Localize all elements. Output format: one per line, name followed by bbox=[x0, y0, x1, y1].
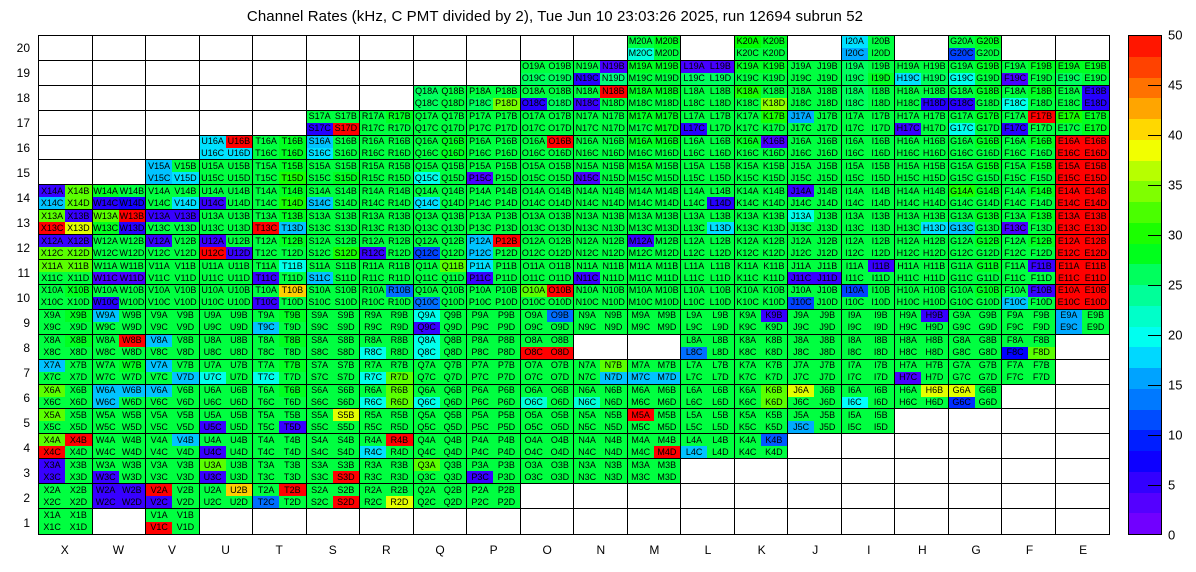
channel-cell: O18D bbox=[547, 98, 573, 110]
channel-cell: V8B bbox=[172, 335, 198, 347]
supermodule-cell: G16AG16BG16CG16D bbox=[949, 136, 1003, 161]
channel-cell: N4C bbox=[574, 446, 600, 458]
supermodule-cell: K13AK13BK13CK13D bbox=[735, 210, 789, 235]
channel-cell: R3B bbox=[386, 459, 412, 471]
supermodule-cell bbox=[253, 61, 307, 86]
channel-cell: K14C bbox=[735, 197, 761, 209]
channel-cell: X2C bbox=[39, 496, 65, 508]
channel-cell: R7D bbox=[386, 372, 412, 384]
channel-cell: O12A bbox=[521, 235, 547, 247]
channel-cell: M10A bbox=[628, 285, 654, 297]
channel-cell: H14A bbox=[895, 185, 921, 197]
channel-cell: W13D bbox=[119, 222, 145, 234]
channel-cell: K9B bbox=[761, 310, 787, 322]
channel-cell: N5A bbox=[574, 409, 600, 421]
channel-cell: W11D bbox=[119, 272, 145, 284]
supermodule-cell: O5AO5BO5CO5D bbox=[521, 409, 575, 434]
channel-cell: O4D bbox=[547, 446, 573, 458]
channel-cell: N10D bbox=[600, 297, 626, 309]
supermodule-cell: L9AL9BL9CL9D bbox=[681, 310, 735, 335]
channel-cell: Q5A bbox=[414, 409, 440, 421]
supermodule-cell: P16AP16BP16CP16D bbox=[467, 136, 521, 161]
channel-cell: J14C bbox=[788, 197, 814, 209]
channel-cell: T9C bbox=[253, 322, 279, 334]
x-axis-tick-label: V bbox=[145, 539, 199, 563]
channel-cell: H14C bbox=[895, 197, 921, 209]
supermodule-cell: V15AV15BV15CV15D bbox=[146, 160, 200, 185]
channel-cell: W4B bbox=[119, 434, 145, 446]
channel-cell: G6C bbox=[949, 397, 975, 409]
channel-cell: I15D bbox=[868, 172, 894, 184]
supermodule-cell: Q13AQ13BQ13CQ13D bbox=[414, 210, 468, 235]
channel-cell: T11D bbox=[279, 272, 305, 284]
channel-cell: M15B bbox=[654, 160, 680, 172]
channel-cell: V10D bbox=[172, 297, 198, 309]
supermodule-cell: K15AK15BK15CK15D bbox=[735, 160, 789, 185]
channel-cell: M7C bbox=[628, 372, 654, 384]
channel-cell: L7B bbox=[707, 360, 733, 372]
channel-cell: S9A bbox=[307, 310, 333, 322]
supermodule-cell bbox=[307, 36, 361, 61]
channel-cell: M19B bbox=[654, 61, 680, 73]
channel-cell: U14B bbox=[226, 185, 252, 197]
supermodule-cell: W12AW12BW12CW12D bbox=[93, 235, 147, 260]
channel-cell: L10D bbox=[707, 297, 733, 309]
channel-cell: V12D bbox=[172, 247, 198, 259]
supermodule-cell: K19AK19BK19CK19D bbox=[735, 61, 789, 86]
channel-cell: R17C bbox=[360, 123, 386, 135]
channel-cell: K4B bbox=[761, 434, 787, 446]
supermodule-cell: N11AN11BN11CN11D bbox=[574, 260, 628, 285]
channel-cell: W5C bbox=[93, 421, 119, 433]
channel-cell: F7D bbox=[1028, 372, 1054, 384]
channel-cell: E19D bbox=[1082, 73, 1109, 85]
supermodule-cell: R10AR10BR10CR10D bbox=[360, 285, 414, 310]
channel-cell: V9A bbox=[146, 310, 172, 322]
supermodule-cell: I8AI8BI8CI8D bbox=[842, 335, 896, 360]
channel-cell: Q10A bbox=[414, 285, 440, 297]
x-axis-tick-label: U bbox=[199, 539, 253, 563]
channel-cell: Q12B bbox=[440, 235, 466, 247]
channel-cell: X1A bbox=[39, 509, 65, 521]
supermodule-cell: F19AF19BF19CF19D bbox=[1002, 61, 1056, 86]
channel-cell: H8D bbox=[921, 347, 947, 359]
supermodule-cell: S3AS3BS3CS3D bbox=[307, 459, 361, 484]
channel-cell: I10C bbox=[842, 297, 868, 309]
channel-cell: P2B bbox=[493, 484, 519, 496]
channel-cell: X9D bbox=[65, 322, 91, 334]
supermodule-cell bbox=[1002, 36, 1056, 61]
channel-cell: Q14A bbox=[414, 185, 440, 197]
channel-cell: U6B bbox=[226, 385, 252, 397]
channel-cell: Q16C bbox=[414, 148, 440, 160]
supermodule-cell: R2AR2BR2CR2D bbox=[360, 484, 414, 509]
channel-cell: S5D bbox=[333, 421, 359, 433]
channel-cell: P4D bbox=[493, 446, 519, 458]
supermodule-cell: L4AL4BL4CL4D bbox=[681, 434, 735, 459]
supermodule-cell: H13AH13BH13CH13D bbox=[895, 210, 949, 235]
channel-cell: U13A bbox=[200, 210, 226, 222]
channel-cell: J16A bbox=[788, 136, 814, 148]
channel-cell: E12C bbox=[1056, 247, 1083, 259]
channel-cell: J9A bbox=[788, 310, 814, 322]
channel-cell: Q11D bbox=[440, 272, 466, 284]
channel-cell: J17D bbox=[814, 123, 840, 135]
channel-cell: L13B bbox=[707, 210, 733, 222]
channel-cell: K17D bbox=[761, 123, 787, 135]
supermodule-cell: I6AI6BI6CI6D bbox=[842, 385, 896, 410]
supermodule-cell: V4AV4BV4CV4D bbox=[146, 434, 200, 459]
channel-cell: W10A bbox=[93, 285, 119, 297]
channel-cell: I7B bbox=[868, 360, 894, 372]
channel-cell: G8B bbox=[975, 335, 1001, 347]
supermodule-cell bbox=[1056, 484, 1110, 509]
channel-cell: F8B bbox=[1028, 335, 1054, 347]
channel-cell: R4C bbox=[360, 446, 386, 458]
channel-cell: U9D bbox=[226, 322, 252, 334]
supermodule-cell: P10AP10BP10CP10D bbox=[467, 285, 521, 310]
channel-cell: L11D bbox=[707, 272, 733, 284]
channel-cell: Q4A bbox=[414, 434, 440, 446]
channel-cell: I11C bbox=[842, 272, 868, 284]
channel-cell: R4D bbox=[386, 446, 412, 458]
channel-cell: V6B bbox=[172, 385, 198, 397]
channel-cell: Q9B bbox=[440, 310, 466, 322]
channel-cell: Q3C bbox=[414, 471, 440, 483]
channel-cell: H11D bbox=[921, 272, 947, 284]
channel-cell: I10D bbox=[868, 297, 894, 309]
channel-cell: T8C bbox=[253, 347, 279, 359]
channel-cell: R7A bbox=[360, 360, 386, 372]
channel-cell: V10B bbox=[172, 285, 198, 297]
channel-cell: G20B bbox=[975, 36, 1001, 48]
supermodule-cell bbox=[895, 459, 949, 484]
colorbar-tick-label: 0 bbox=[1168, 528, 1175, 543]
channel-cell: U11A bbox=[200, 260, 226, 272]
channel-cell: P18A bbox=[467, 86, 493, 98]
channel-cell: P16D bbox=[493, 148, 519, 160]
channel-cell: Q9C bbox=[414, 322, 440, 334]
channel-cell: I9D bbox=[868, 322, 894, 334]
channel-cell: G12C bbox=[949, 247, 975, 259]
channel-cell: O10A bbox=[521, 285, 547, 297]
channel-cell: L6A bbox=[681, 385, 707, 397]
channel-cell: X5C bbox=[39, 421, 65, 433]
channel-cell: V3B bbox=[172, 459, 198, 471]
channel-cell: Q18C bbox=[414, 98, 440, 110]
channel-cell: L13A bbox=[681, 210, 707, 222]
supermodule-cell bbox=[1002, 385, 1056, 410]
channel-cell: U5C bbox=[200, 421, 226, 433]
channel-cell: M16A bbox=[628, 136, 654, 148]
supermodule-cell: H6AH6BH6CH6D bbox=[895, 385, 949, 410]
channel-cell: U9B bbox=[226, 310, 252, 322]
x-axis-tick-label: E bbox=[1056, 539, 1110, 563]
channel-cell: S17A bbox=[307, 111, 333, 123]
channel-cell: Q16B bbox=[440, 136, 466, 148]
supermodule-cell: K16AK16BK16CK16D bbox=[735, 136, 789, 161]
supermodule-cell: F12AF12BF12CF12D bbox=[1002, 235, 1056, 260]
channel-cell: S4B bbox=[333, 434, 359, 446]
channel-cell: M10C bbox=[628, 297, 654, 309]
channel-cell: L8C bbox=[681, 347, 707, 359]
channel-cell: E14B bbox=[1082, 185, 1109, 197]
channel-cell: P16C bbox=[467, 148, 493, 160]
channel-cell: O10C bbox=[521, 297, 547, 309]
supermodule-cell: J14AJ14BJ14CJ14D bbox=[788, 185, 842, 210]
channel-cell: F17C bbox=[1002, 123, 1028, 135]
channel-cell: L9B bbox=[707, 310, 733, 322]
supermodule-cell: X9AX9BX9CX9D bbox=[39, 310, 93, 335]
channel-cell: L17C bbox=[681, 123, 707, 135]
supermodule-cell bbox=[574, 36, 628, 61]
supermodule-cell: O18AO18BO18CO18D bbox=[521, 86, 575, 111]
supermodule-cell: M4AM4BM4CM4D bbox=[628, 434, 682, 459]
channel-cell: M18B bbox=[654, 86, 680, 98]
channel-cell: J19B bbox=[814, 61, 840, 73]
channel-cell: K11C bbox=[735, 272, 761, 284]
channel-cell: L6B bbox=[707, 385, 733, 397]
supermodule-cell: L10AL10BL10CL10D bbox=[681, 285, 735, 310]
supermodule-cell bbox=[307, 61, 361, 86]
channel-cell: W5B bbox=[119, 409, 145, 421]
supermodule-cell: O16AO16BO16CO16D bbox=[521, 136, 575, 161]
channel-cell: N12A bbox=[574, 235, 600, 247]
supermodule-cell: L11AL11BL11CL11D bbox=[681, 260, 735, 285]
supermodule-cell: U4AU4BU4CU4D bbox=[200, 434, 254, 459]
channel-cell: N4A bbox=[574, 434, 600, 446]
channel-cell: P6A bbox=[467, 385, 493, 397]
channel-cell: R6A bbox=[360, 385, 386, 397]
channel-cell: W2B bbox=[119, 484, 145, 496]
channel-cell: N11D bbox=[600, 272, 626, 284]
supermodule-cell: X8AX8BX8CX8D bbox=[39, 335, 93, 360]
y-axis-tick-label: 9 bbox=[23, 316, 30, 330]
supermodule-cell: S8AS8BS8CS8D bbox=[307, 335, 361, 360]
supermodule-cell: G20AG20BG20CG20D bbox=[949, 36, 1003, 61]
channel-cell: W8B bbox=[119, 335, 145, 347]
supermodule-cell bbox=[949, 409, 1003, 434]
channel-cell: M10D bbox=[654, 297, 680, 309]
supermodule-cell: E18AE18BE18CE18D bbox=[1056, 86, 1110, 111]
channel-cell: I6B bbox=[868, 385, 894, 397]
supermodule-cell bbox=[681, 509, 735, 534]
supermodule-cell: M5AM5BM5CM5D bbox=[628, 409, 682, 434]
colorbar-tick-label: 30 bbox=[1168, 228, 1182, 243]
channel-cell: N13C bbox=[574, 222, 600, 234]
channel-cell: K19D bbox=[761, 73, 787, 85]
channel-cell: M17C bbox=[628, 123, 654, 135]
channel-cell: T9D bbox=[279, 322, 305, 334]
channel-cell: E16D bbox=[1082, 148, 1109, 160]
supermodule-cell: K5AK5BK5CK5D bbox=[735, 409, 789, 434]
channel-cell: S4C bbox=[307, 446, 333, 458]
channel-cell: I14B bbox=[868, 185, 894, 197]
channel-cell: G20C bbox=[949, 48, 975, 60]
channel-cell: Q17B bbox=[440, 111, 466, 123]
channel-cell: L7D bbox=[707, 372, 733, 384]
supermodule-cell bbox=[1002, 409, 1056, 434]
supermodule-cell: R16AR16BR16CR16D bbox=[360, 136, 414, 161]
supermodule-cell bbox=[253, 509, 307, 534]
channel-cell: I5D bbox=[868, 421, 894, 433]
supermodule-cell bbox=[93, 61, 147, 86]
channel-cell: J19A bbox=[788, 61, 814, 73]
channel-cell: O6B bbox=[547, 385, 573, 397]
supermodule-cell bbox=[39, 111, 93, 136]
channel-cell: K7B bbox=[761, 360, 787, 372]
supermodule-cell: T15AT15BT15CT15D bbox=[253, 160, 307, 185]
channel-cell: I18D bbox=[868, 98, 894, 110]
channel-cell: T3D bbox=[279, 471, 305, 483]
channel-cell: H12C bbox=[895, 247, 921, 259]
channel-cell: U12C bbox=[200, 247, 226, 259]
channel-cell: X14A bbox=[39, 185, 65, 197]
channel-cell: H9B bbox=[921, 310, 947, 322]
channel-cell: S14A bbox=[307, 185, 333, 197]
supermodule-cell: O4AO4BO4CO4D bbox=[521, 434, 575, 459]
channel-cell: O17A bbox=[521, 111, 547, 123]
channel-cell: W12C bbox=[93, 247, 119, 259]
channel-cell: Q4D bbox=[440, 446, 466, 458]
channel-cell: P18D bbox=[493, 98, 519, 110]
channel-cell: O19C bbox=[521, 73, 547, 85]
supermodule-cell bbox=[307, 509, 361, 534]
supermodule-cell: F9AF9BF9CF9D bbox=[1002, 310, 1056, 335]
supermodule-cell: U12AU12BU12CU12D bbox=[200, 235, 254, 260]
channel-cell: Q7A bbox=[414, 360, 440, 372]
supermodule-cell: E13AE13BE13CE13D bbox=[1056, 210, 1110, 235]
channel-cell: I20C bbox=[842, 48, 868, 60]
channel-cell: V7A bbox=[146, 360, 172, 372]
channel-cell: O7C bbox=[521, 372, 547, 384]
channel-cell: T7A bbox=[253, 360, 279, 372]
supermodule-cell bbox=[521, 36, 575, 61]
channel-cell: J18C bbox=[788, 98, 814, 110]
channel-cell: P4C bbox=[467, 446, 493, 458]
channel-cell: N14B bbox=[600, 185, 626, 197]
supermodule-cell bbox=[574, 484, 628, 509]
channel-cell: V6C bbox=[146, 397, 172, 409]
channel-cell: J15B bbox=[814, 160, 840, 172]
channel-cell: M14B bbox=[654, 185, 680, 197]
channel-cell: U11B bbox=[226, 260, 252, 272]
supermodule-cell bbox=[1056, 36, 1110, 61]
supermodule-cell: X4AX4BX4CX4D bbox=[39, 434, 93, 459]
channel-cell: K10A bbox=[735, 285, 761, 297]
channel-cell: W4A bbox=[93, 434, 119, 446]
channel-cell: H12B bbox=[921, 235, 947, 247]
supermodule-cell: S9AS9BS9CS9D bbox=[307, 310, 361, 335]
supermodule-cell: Q6AQ6BQ6CQ6D bbox=[414, 385, 468, 410]
supermodule-cell: H16AH16BH16CH16D bbox=[895, 136, 949, 161]
supermodule-cell: O10AO10BO10CO10D bbox=[521, 285, 575, 310]
channel-cell: G19C bbox=[949, 73, 975, 85]
channel-cell: U3A bbox=[200, 459, 226, 471]
channel-cell: G19B bbox=[975, 61, 1001, 73]
channel-cell: Q9A bbox=[414, 310, 440, 322]
channel-cell: T9B bbox=[279, 310, 305, 322]
channel-cell: F16A bbox=[1002, 136, 1028, 148]
channel-cell: G13A bbox=[949, 210, 975, 222]
channel-cell: N3A bbox=[574, 459, 600, 471]
channel-cell: S5B bbox=[333, 409, 359, 421]
channel-cell: M12D bbox=[654, 247, 680, 259]
channel-cell: H10B bbox=[921, 285, 947, 297]
supermodule-cell: X11AX11BX11CX11D bbox=[39, 260, 93, 285]
channel-cell: K11B bbox=[761, 260, 787, 272]
supermodule-cell: S16AS16BS16CS16D bbox=[307, 136, 361, 161]
channel-cell: L16A bbox=[681, 136, 707, 148]
channel-cell: N16B bbox=[600, 136, 626, 148]
channel-cell: S17B bbox=[333, 111, 359, 123]
supermodule-cell: S12AS12BS12CS12D bbox=[307, 235, 361, 260]
supermodule-cell: W3AW3BW3CW3D bbox=[93, 459, 147, 484]
channel-cell: M6C bbox=[628, 397, 654, 409]
supermodule-cell: I14AI14BI14CI14D bbox=[842, 185, 896, 210]
channel-cell: U15A bbox=[200, 160, 226, 172]
x-axis-tick-label: P bbox=[467, 539, 521, 563]
supermodule-cell: F8AF8BF8CF8D bbox=[1002, 335, 1056, 360]
channel-cell: L10B bbox=[707, 285, 733, 297]
channel-cell: S8A bbox=[307, 335, 333, 347]
supermodule-cell: G12AG12BG12CG12D bbox=[949, 235, 1003, 260]
channel-cell: H10A bbox=[895, 285, 921, 297]
channel-cell: F13A bbox=[1002, 210, 1028, 222]
channel-cell: X4A bbox=[39, 434, 65, 446]
channel-cell: X3D bbox=[65, 471, 91, 483]
channel-cell: O18C bbox=[521, 98, 547, 110]
channel-cell: S3A bbox=[307, 459, 333, 471]
channel-cell: S2D bbox=[333, 496, 359, 508]
supermodule-cell: I17AI17BI17CI17D bbox=[842, 111, 896, 136]
channel-cell: R5B bbox=[386, 409, 412, 421]
channel-cell: H15C bbox=[895, 172, 921, 184]
supermodule-cell: O13AO13BO13CO13D bbox=[521, 210, 575, 235]
channel-cell: M20D bbox=[654, 48, 680, 60]
channel-cell: Q15B bbox=[440, 160, 466, 172]
channel-cell: N6B bbox=[600, 385, 626, 397]
supermodule-cell bbox=[1002, 434, 1056, 459]
channel-cell: X9B bbox=[65, 310, 91, 322]
channel-cell: L12C bbox=[681, 247, 707, 259]
channel-cell: K16C bbox=[735, 148, 761, 160]
channel-cell: N17A bbox=[574, 111, 600, 123]
channel-cell: N13D bbox=[600, 222, 626, 234]
supermodule-cell: P12AP12BP12CP12D bbox=[467, 235, 521, 260]
channel-cell: G15A bbox=[949, 160, 975, 172]
channel-cell: Q13A bbox=[414, 210, 440, 222]
channel-cell: J6D bbox=[814, 397, 840, 409]
y-axis-tick-label: 3 bbox=[23, 466, 30, 480]
supermodule-cell bbox=[253, 36, 307, 61]
channel-cell: S16D bbox=[333, 148, 359, 160]
channel-cell: O6C bbox=[521, 397, 547, 409]
channel-cell: R14B bbox=[386, 185, 412, 197]
channel-cell: H12A bbox=[895, 235, 921, 247]
supermodule-cell: V7AV7BV7CV7D bbox=[146, 360, 200, 385]
channel-cell: W8A bbox=[93, 335, 119, 347]
channel-cell: S7B bbox=[333, 360, 359, 372]
channel-cell: O13B bbox=[547, 210, 573, 222]
channel-cell: U16C bbox=[200, 148, 226, 160]
channel-cell: P7A bbox=[467, 360, 493, 372]
channel-cell: N19D bbox=[600, 73, 626, 85]
channel-cell: Q2C bbox=[414, 496, 440, 508]
channel-cell: L10C bbox=[681, 297, 707, 309]
channel-cell: R15A bbox=[360, 160, 386, 172]
supermodule-cell: P3AP3BP3CP3D bbox=[467, 459, 521, 484]
